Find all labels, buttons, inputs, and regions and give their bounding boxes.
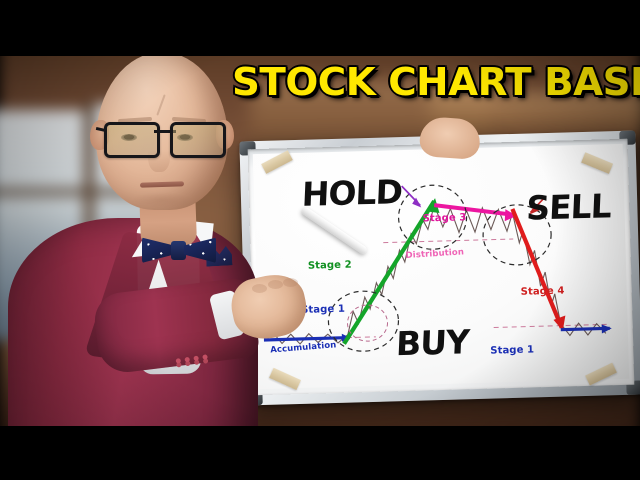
eyeglasses	[104, 120, 226, 154]
knuckle	[252, 284, 267, 293]
pointer-stick	[301, 206, 368, 255]
letterbox-bottom	[0, 426, 640, 480]
sleeve-button	[193, 355, 199, 361]
sleeve-button	[175, 358, 181, 364]
sleeve-button	[184, 357, 190, 363]
knuckle	[283, 278, 298, 287]
lens-left	[104, 122, 160, 158]
page-title: STOCK CHART BASICS	[232, 60, 640, 104]
bow-tie	[142, 236, 216, 266]
sleeve-button	[202, 354, 208, 360]
bow-tie-left-wing	[142, 236, 174, 264]
letterbox-top	[0, 0, 640, 56]
knuckle	[268, 280, 283, 289]
bow-tie-right-wing	[184, 236, 216, 264]
lens-right	[170, 122, 226, 158]
chin-shadow	[132, 192, 192, 208]
bow-tie-knot	[171, 241, 186, 260]
thumbnail-canvas: HOLD SELL BUY Stage 1 Accumulation Stage…	[0, 0, 640, 480]
